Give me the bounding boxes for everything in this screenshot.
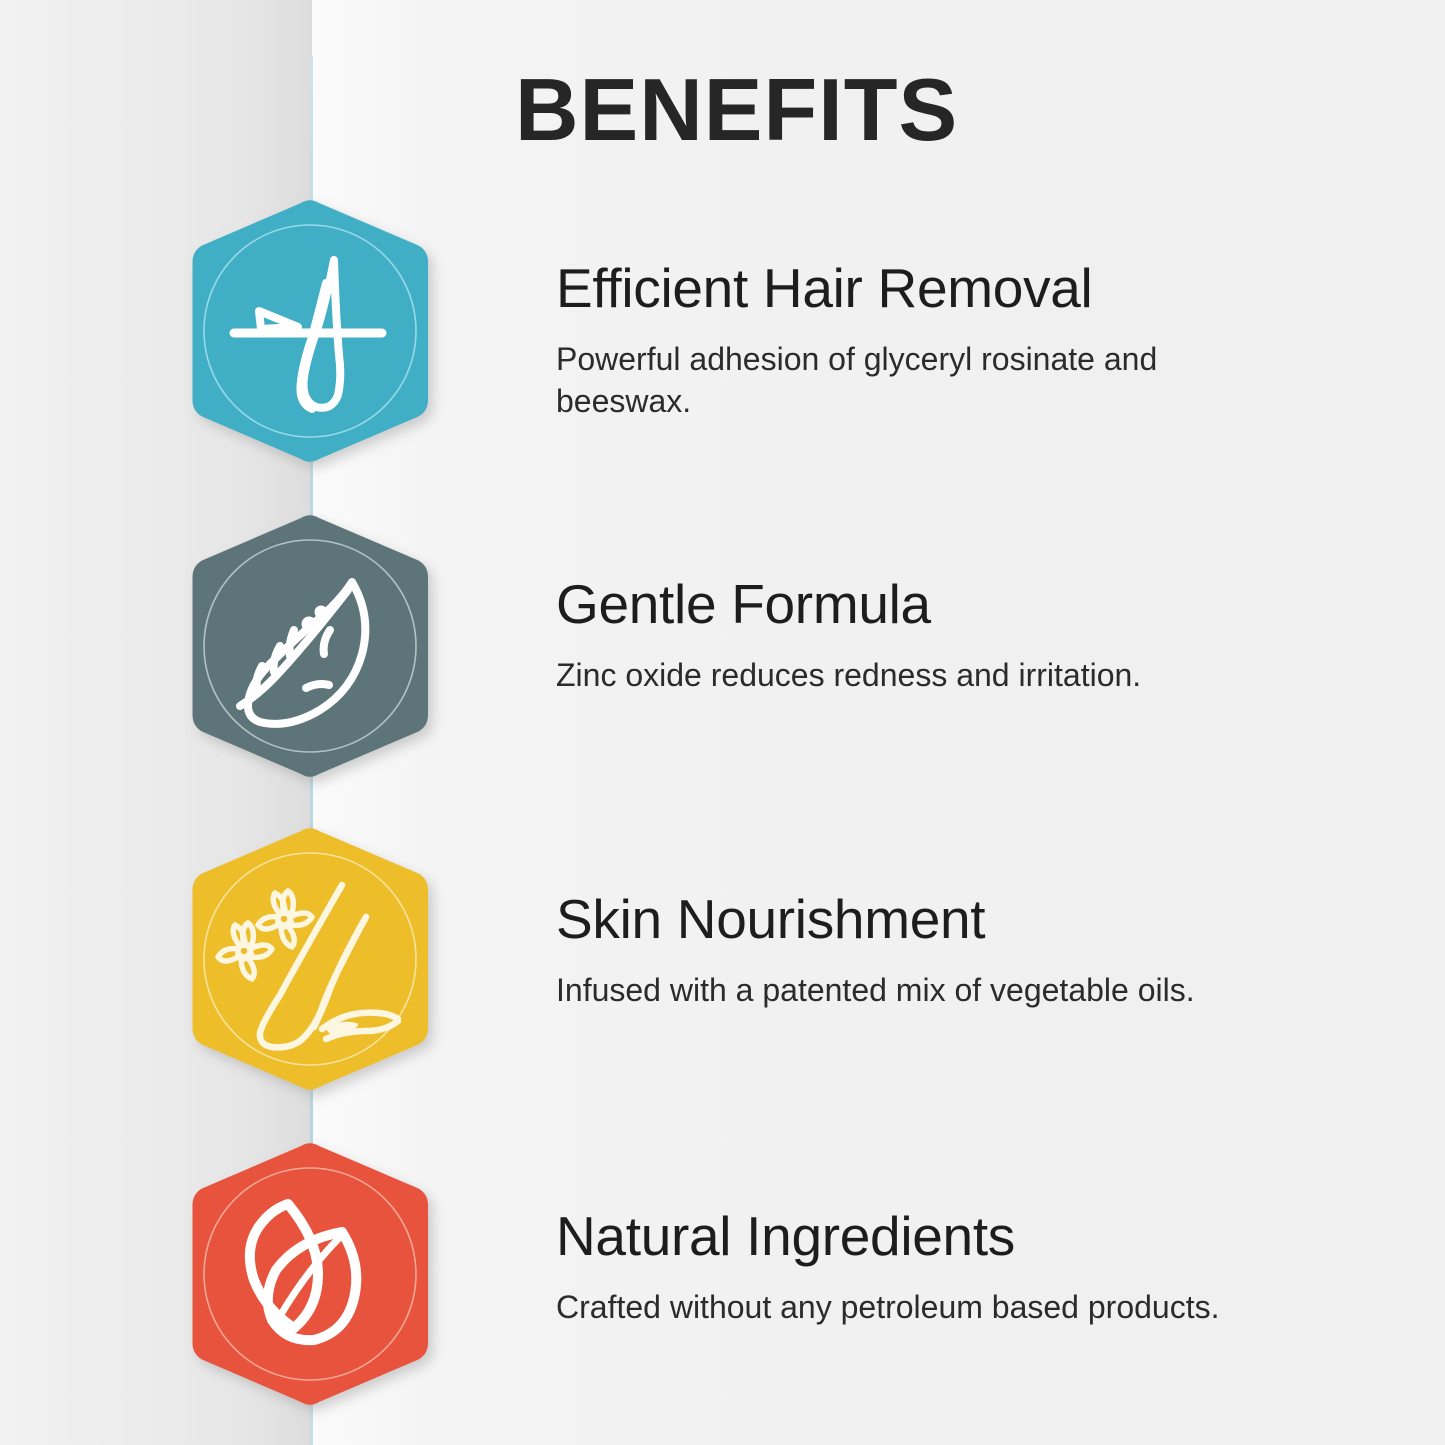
benefits-infographic: BENEFITS — [0, 0, 1445, 1445]
hexagon-badge-1 — [176, 520, 444, 772]
benefit-text-2: Skin Nourishment Infused with a patented… — [556, 891, 1416, 1011]
benefit-title-1: Gentle Formula — [556, 576, 1416, 634]
benefit-text-3: Natural Ingredients Crafted without any … — [556, 1208, 1416, 1328]
page-title: BENEFITS — [515, 66, 958, 154]
hexagon-badge-0 — [176, 205, 444, 457]
benefit-title-3: Natural Ingredients — [556, 1208, 1416, 1266]
benefit-title-2: Skin Nourishment — [556, 891, 1416, 949]
benefit-description-2: Infused with a patented mix of vegetable… — [556, 969, 1386, 1011]
benefit-description-0: Powerful adhesion of glyceryl rosinate a… — [556, 338, 1286, 422]
benefit-text-1: Gentle Formula Zinc oxide reduces rednes… — [556, 576, 1416, 696]
benefit-title-0: Efficient Hair Removal — [556, 260, 1416, 318]
benefit-description-1: Zinc oxide reduces redness and irritatio… — [556, 654, 1386, 696]
hexagon-shape-1 — [193, 515, 429, 777]
benefit-description-3: Crafted without any petroleum based prod… — [556, 1286, 1386, 1328]
hexagon-badge-3 — [176, 1148, 444, 1400]
benefit-text-0: Efficient Hair Removal Powerful adhesion… — [556, 260, 1416, 422]
hexagon-badge-2 — [176, 833, 444, 1085]
